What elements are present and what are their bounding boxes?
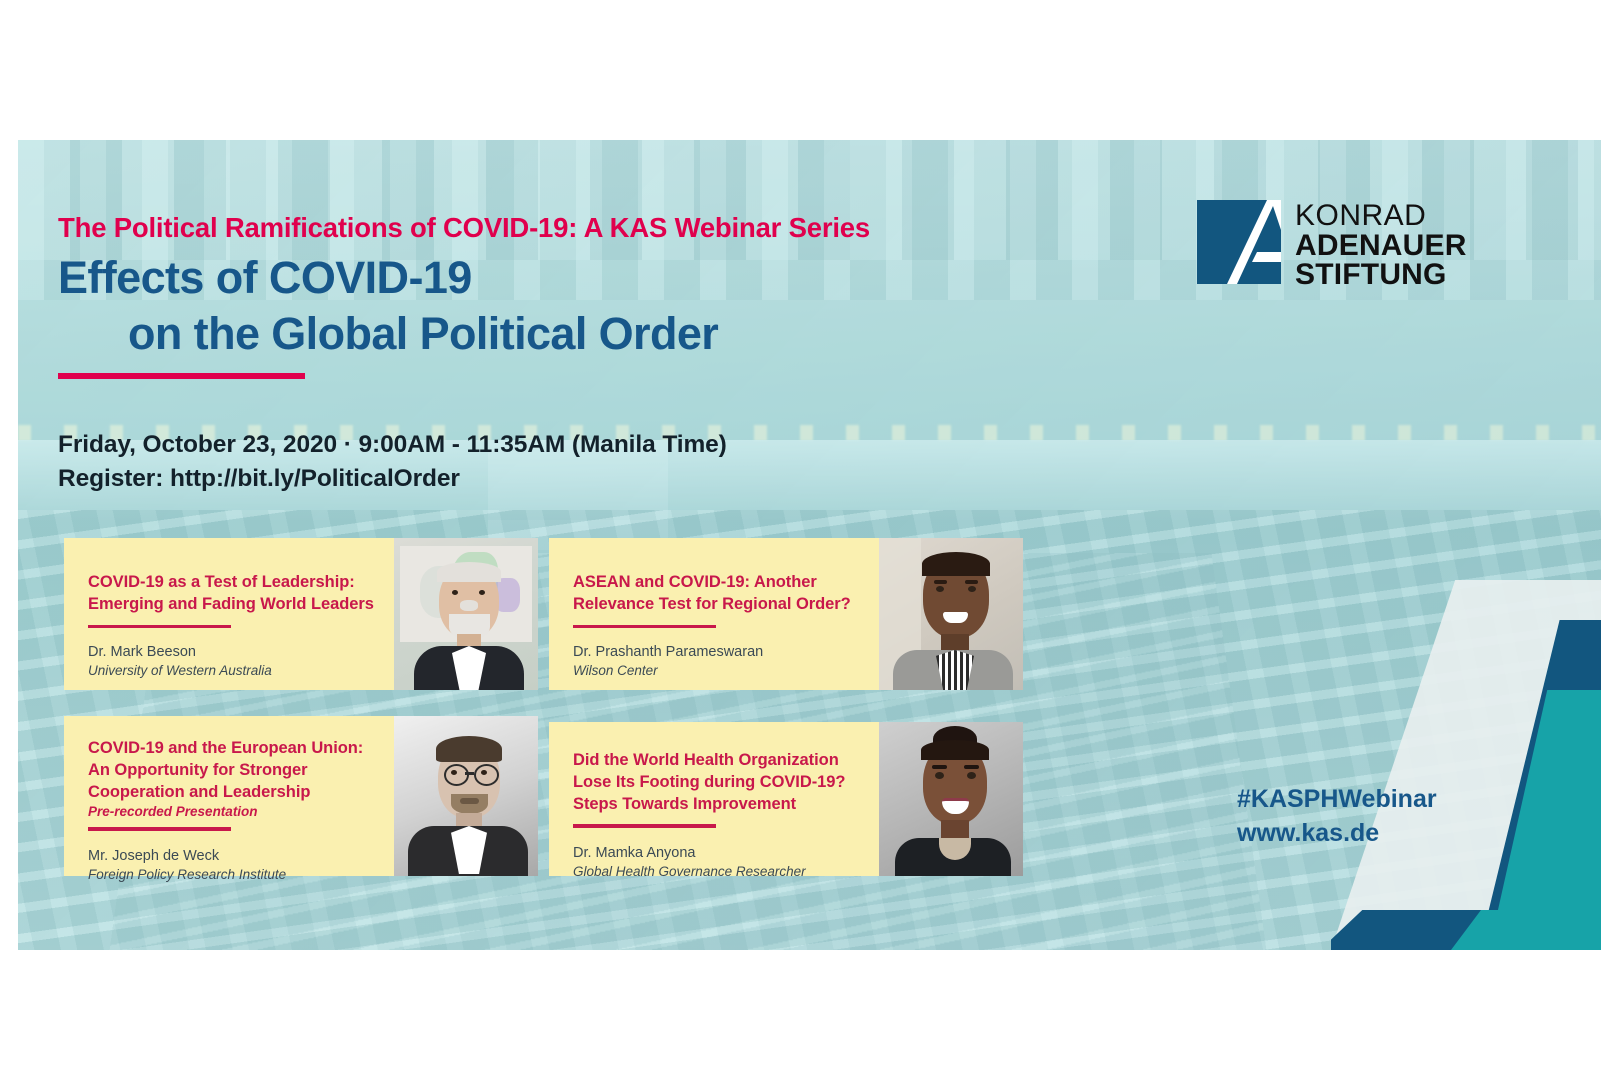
session-card: COVID-19 and the European Union: An Oppo… [64, 716, 538, 876]
kas-logo: KONRAD ADENAUER STIFTUNG [1197, 200, 1467, 290]
speaker-portrait [879, 538, 1023, 690]
corner-decoration [1331, 580, 1601, 950]
poster-canvas: The Political Ramifications of COVID-19:… [0, 0, 1619, 1080]
website-url[interactable]: www.kas.de [1237, 819, 1379, 848]
session-speaker-name: Dr. Mamka Anyona [573, 844, 865, 863]
session-title-rule [88, 625, 231, 629]
session-speaker-affiliation: University of Western Australia [88, 662, 380, 680]
kas-wordmark-line-1: KONRAD [1295, 201, 1467, 231]
registration-link[interactable]: Register: http://bit.ly/PoliticalOrder [58, 465, 460, 493]
page-title-line-2: on the Global Political Order [128, 308, 718, 360]
session-speaker-name: Dr. Prashanth Parameswaran [573, 643, 865, 662]
session-title: COVID-19 and the European Union: An Oppo… [88, 738, 380, 803]
series-subtitle: The Political Ramifications of COVID-19:… [58, 212, 870, 244]
title-underline-rule [58, 373, 305, 379]
session-card: COVID-19 as a Test of Leadership: Emergi… [64, 538, 538, 690]
session-title-rule [573, 824, 716, 828]
session-speaker-affiliation: Wilson Center [573, 662, 865, 680]
session-title: ASEAN and COVID-19: Another Relevance Te… [573, 572, 865, 616]
session-speaker-name: Dr. Mark Beeson [88, 643, 380, 662]
session-card: ASEAN and COVID-19: Another Relevance Te… [549, 538, 1023, 690]
kas-logo-mark-icon [1197, 200, 1281, 284]
session-title: COVID-19 as a Test of Leadership: Emergi… [88, 572, 380, 616]
kas-wordmark-line-3: STIFTUNG [1295, 260, 1467, 290]
kas-wordmark: KONRAD ADENAUER STIFTUNG [1295, 200, 1467, 290]
event-date-time: Friday, October 23, 2020 · 9:00AM - 11:3… [58, 431, 727, 459]
webinar-banner: The Political Ramifications of COVID-19:… [18, 140, 1601, 950]
page-title-line-1: Effects of COVID-19 [58, 252, 472, 304]
session-title-rule [88, 827, 231, 831]
session-note: Pre-recorded Presentation [88, 804, 380, 819]
session-speaker-affiliation: Foreign Policy Research Institute [88, 866, 380, 884]
speaker-portrait [879, 722, 1023, 876]
kas-wordmark-line-2: ADENAUER [1295, 231, 1467, 261]
speaker-portrait [394, 716, 538, 876]
session-speaker-affiliation: Global Health Governance Researcher [573, 863, 865, 881]
event-hashtag: #KASPHWebinar [1237, 785, 1437, 814]
session-title: Did the World Health Organization Lose I… [573, 750, 865, 815]
session-title-rule [573, 625, 716, 629]
session-card: Did the World Health Organization Lose I… [549, 722, 1023, 876]
session-speaker-name: Mr. Joseph de Weck [88, 847, 380, 866]
speaker-portrait [394, 538, 538, 690]
